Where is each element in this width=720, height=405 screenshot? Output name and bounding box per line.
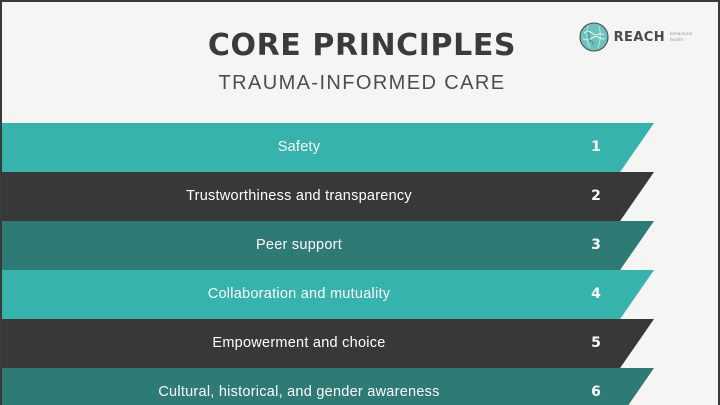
principle-number: 6 xyxy=(580,368,612,405)
principle-bar[interactable]: Cultural, historical, and gender awarene… xyxy=(2,368,654,405)
principle-number: 1 xyxy=(580,123,612,172)
brand-logo: REACH behavioral health xyxy=(579,20,704,54)
principle-bar[interactable]: Safety1 xyxy=(2,123,654,172)
principle-label: Empowerment and choice xyxy=(2,319,596,368)
principle-label: Peer support xyxy=(2,221,596,270)
principle-bar[interactable]: Trustworthiness and transparency2 xyxy=(2,172,654,221)
principle-label: Safety xyxy=(2,123,596,172)
principle-label: Cultural, historical, and gender awarene… xyxy=(2,368,596,405)
logo-tagline: behavioral health xyxy=(670,31,704,43)
principles-list: Safety1Trustworthiness and transparency2… xyxy=(2,123,720,405)
logo-wordmark: REACH xyxy=(614,31,665,44)
principle-bar[interactable]: Peer support3 xyxy=(2,221,654,270)
principle-number: 2 xyxy=(580,172,612,221)
principle-label: Collaboration and mutuality xyxy=(2,270,596,319)
principle-number: 3 xyxy=(580,221,612,270)
globe-icon xyxy=(579,22,609,52)
principle-label: Trustworthiness and transparency xyxy=(2,172,596,221)
slide-canvas: CORE PRINCIPLES TRAUMA-INFORMED CARE REA… xyxy=(0,0,720,405)
principle-bar[interactable]: Empowerment and choice5 xyxy=(2,319,654,368)
principle-number: 5 xyxy=(580,319,612,368)
principle-bar[interactable]: Collaboration and mutuality4 xyxy=(2,270,654,319)
principle-number: 4 xyxy=(580,270,612,319)
page-subtitle: TRAUMA-INFORMED CARE xyxy=(2,72,720,95)
